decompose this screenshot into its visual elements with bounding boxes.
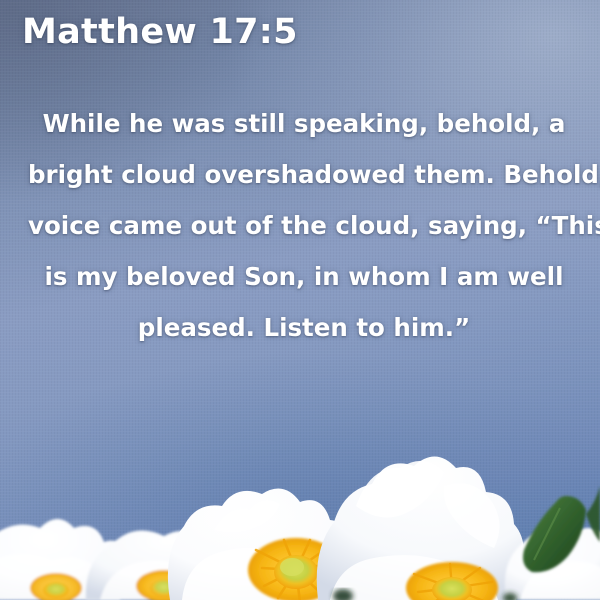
verse-body-text: While he was still speaking, behold, a b…: [28, 98, 580, 353]
verse-line: is my beloved Son, in whom I am well: [28, 251, 580, 302]
verse-line: bright cloud overshadowed them. Behold, …: [28, 149, 580, 200]
verse-reference-title: Matthew 17:5: [22, 12, 298, 52]
verse-line: pleased. Listen to him.”: [28, 302, 580, 353]
verse-line: voice came out of the cloud, saying, “Th…: [28, 200, 580, 251]
verse-line: While he was still speaking, behold, a: [28, 98, 580, 149]
verse-image-card: Matthew 17:5 While he was still speaking…: [0, 0, 600, 600]
